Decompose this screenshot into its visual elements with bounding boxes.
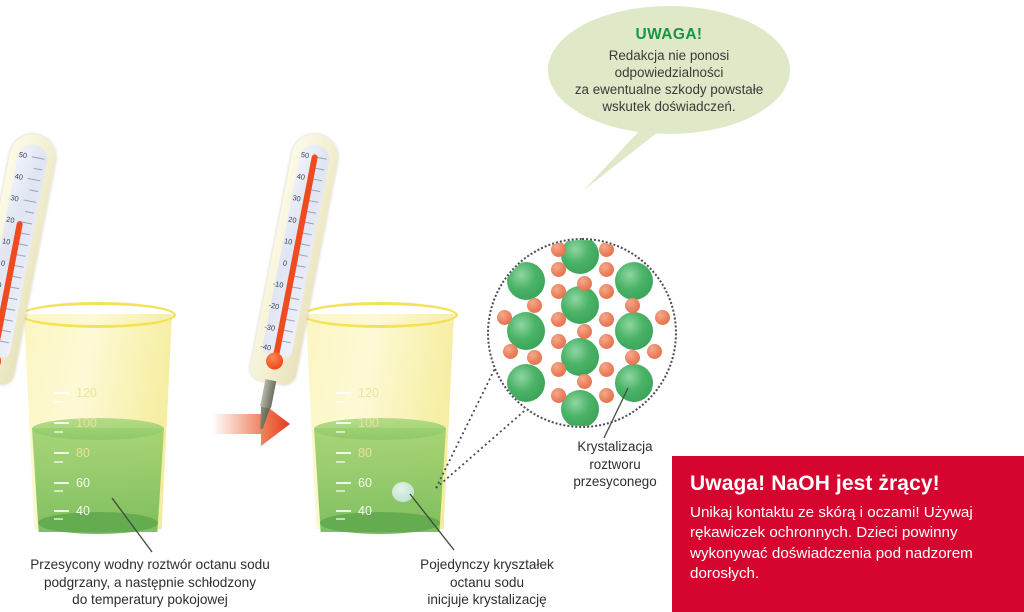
graduation-label: 40	[358, 504, 372, 518]
solvent-particle	[599, 262, 614, 277]
solvent-particle	[599, 334, 614, 349]
solvent-particle	[577, 324, 592, 339]
graduation-label: 20	[358, 532, 372, 546]
middle-caption-line-3: inicjuje krystalizację	[372, 591, 602, 609]
solvent-particle	[577, 276, 592, 291]
solute-particle	[615, 262, 653, 300]
magnified-solution-view	[487, 238, 673, 424]
graduation-label: 80	[358, 446, 372, 460]
solute-particle	[507, 262, 545, 300]
solvent-particle	[551, 388, 566, 403]
solvent-particle	[625, 350, 640, 365]
solvent-particle	[551, 242, 566, 257]
solvent-particle	[599, 284, 614, 299]
solvent-particle	[577, 374, 592, 389]
illustration-canvas: UWAGA! Redakcja nie ponosi odpowiedzialn…	[0, 0, 1024, 612]
hazard-title: Uwaga! NaOH jest żrący!	[690, 472, 1006, 496]
solute-particle	[561, 286, 599, 324]
solvent-particle	[655, 310, 670, 325]
solvent-particle	[599, 312, 614, 327]
graduation-label: 60	[358, 476, 372, 490]
solvent-particle	[625, 298, 640, 313]
disclaimer-line-2: odpowiedzialności	[564, 64, 774, 81]
solvent-particle	[503, 344, 518, 359]
hazard-body: Unikaj kontaktu ze skórą i oczami! Używa…	[690, 503, 1006, 584]
left-caption-leader-line	[110, 496, 180, 558]
disclaimer-line-3: za ewentualne szkody powstałe	[564, 81, 774, 98]
left-beaker-caption: Przesycony wodny roztwór octanu sodu pod…	[0, 556, 300, 609]
hazard-warning-box: Uwaga! NaOH jest żrący! Unikaj kontaktu …	[672, 456, 1024, 612]
graduation-label: 80	[76, 446, 90, 460]
solvent-particle	[501, 246, 516, 261]
crystal-leader-line	[408, 492, 478, 554]
middle-caption-line-1: Pojedynczy kryształek	[372, 556, 602, 574]
disclaimer-line-1: Redakcja nie ponosi	[564, 47, 774, 64]
process-arrow	[212, 400, 290, 448]
magnifier-caption-line-2: roztworu	[540, 456, 690, 474]
left-caption-line-1: Przesycony wodny roztwór octanu sodu	[0, 556, 300, 574]
solvent-particle	[551, 312, 566, 327]
solvent-particle	[649, 254, 664, 269]
magnifier-caption-leader-line	[594, 386, 634, 442]
solvent-particle	[551, 334, 566, 349]
solute-particle	[561, 338, 599, 376]
graduation-label: 25	[76, 532, 90, 546]
solvent-particle	[599, 362, 614, 377]
left-caption-line-2: podgrzany, a następnie schłodzony	[0, 574, 300, 592]
disclaimer-speech-bubble: UWAGA! Redakcja nie ponosi odpowiedzialn…	[548, 6, 790, 134]
solvent-particle	[527, 298, 542, 313]
magnifier-caption-line-1: Krystalizacja	[540, 438, 690, 456]
left-caption-line-3: do temperatury pokojowej	[0, 591, 300, 609]
magnifier-caption-line-3: przesyconego	[540, 473, 690, 491]
solvent-particle	[497, 310, 512, 325]
right-beaker-caption: Pojedynczy kryształek octanu sodu inicju…	[372, 556, 602, 609]
middle-caption-line-2: octanu sodu	[372, 574, 602, 592]
graduation-label: 120	[358, 386, 379, 400]
solute-particle	[507, 364, 545, 402]
solvent-particle	[527, 350, 542, 365]
solvent-particle	[551, 262, 566, 277]
graduation-label: 40	[76, 504, 90, 518]
solute-particle	[615, 312, 653, 350]
graduation-label: 60	[76, 476, 90, 490]
solvent-particle	[647, 344, 662, 359]
disclaimer-title: UWAGA!	[564, 25, 774, 45]
solvent-particle	[599, 242, 614, 257]
solvent-particle	[551, 284, 566, 299]
graduation-label: 120	[76, 386, 97, 400]
graduation-label: 100	[76, 416, 97, 430]
disclaimer-line-4: wskutek doświadczeń.	[564, 98, 774, 115]
solute-particle	[561, 238, 599, 274]
graduation-label: 100	[358, 416, 379, 430]
solvent-particle	[551, 362, 566, 377]
magnifier-circle	[487, 238, 677, 428]
speech-bubble-tail	[580, 126, 660, 192]
magnifier-caption: Krystalizacja roztworu przesyconego	[540, 438, 690, 491]
